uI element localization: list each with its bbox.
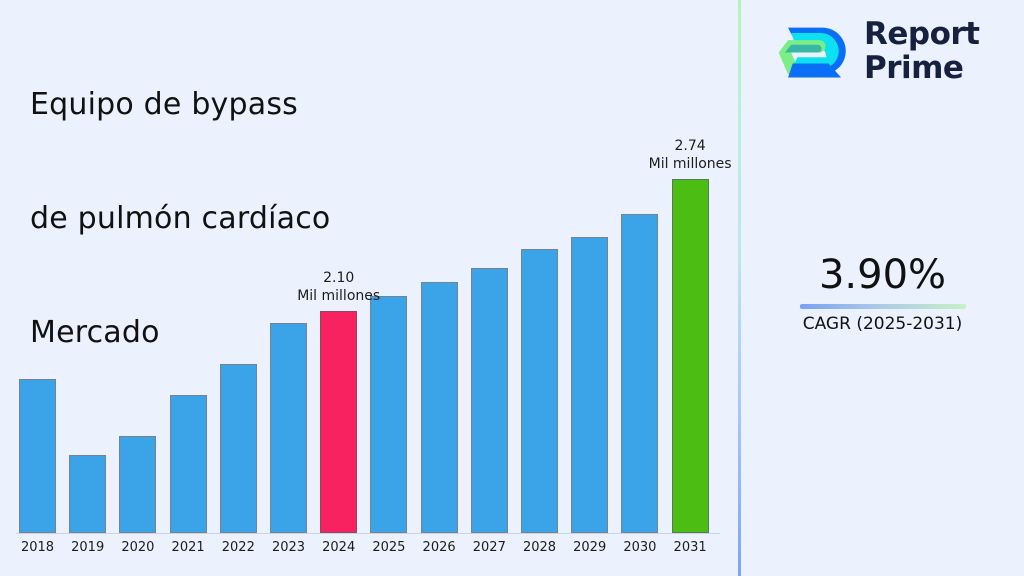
bar-2022 — [220, 364, 257, 533]
bar-2031 — [672, 179, 709, 533]
logo-text-line-2: Prime — [864, 51, 980, 85]
bar-2026 — [421, 282, 458, 533]
bar-2021 — [170, 395, 207, 533]
bar-callout-value-2031: 2.74 — [630, 137, 750, 155]
bar-callout-value-2024: 2.10 — [279, 269, 399, 287]
x-tick-2022: 2022 — [214, 540, 263, 555]
cagr-divider-rule — [800, 304, 966, 309]
right-panel: Report Prime 3.90% CAGR (2025-2031) — [741, 0, 1024, 576]
x-tick-2030: 2030 — [615, 540, 664, 555]
x-tick-2026: 2026 — [415, 540, 464, 555]
x-tick-2019: 2019 — [63, 540, 112, 555]
cagr-block: 3.90% CAGR (2025-2031) — [741, 252, 1024, 335]
x-tick-2020: 2020 — [113, 540, 162, 555]
report-prime-logo-text: Report Prime — [864, 17, 980, 85]
x-tick-2018: 2018 — [13, 540, 62, 555]
bar-2028 — [521, 249, 558, 533]
bar-2023 — [270, 323, 307, 533]
bar-2029 — [571, 237, 608, 533]
chart-page: Equipo de bypass de pulmón cardíaco Merc… — [0, 0, 1024, 576]
bar-2030 — [621, 214, 658, 533]
x-tick-2023: 2023 — [264, 540, 313, 555]
bar-callout-2031: 2.74Mil millones — [630, 137, 750, 173]
bar-chart: 2018201920202021202220232024202520262027… — [0, 0, 738, 576]
bar-callout-unit-2024: Mil millones — [279, 287, 399, 305]
x-tick-2031: 2031 — [666, 540, 715, 555]
bar-2019 — [69, 455, 106, 533]
report-prime-logo-mark — [774, 12, 852, 90]
bar-2027 — [471, 268, 508, 534]
logo-text-line-1: Report — [864, 17, 980, 51]
x-tick-2025: 2025 — [364, 540, 413, 555]
x-tick-2024: 2024 — [314, 540, 363, 555]
bar-callout-unit-2031: Mil millones — [630, 155, 750, 173]
x-axis-line — [16, 533, 720, 534]
bar-2020 — [119, 436, 156, 533]
bar-2025 — [370, 296, 407, 533]
cagr-label: CAGR (2025-2031) — [741, 313, 1024, 335]
bar-2024 — [320, 311, 357, 533]
x-tick-2028: 2028 — [515, 540, 564, 555]
bar-2018 — [19, 379, 56, 533]
cagr-value: 3.90% — [741, 252, 1024, 298]
x-tick-2027: 2027 — [465, 540, 514, 555]
x-tick-2021: 2021 — [164, 540, 213, 555]
report-prime-logo: Report Prime — [774, 12, 980, 90]
bar-callout-2024: 2.10Mil millones — [279, 269, 399, 305]
x-tick-2029: 2029 — [565, 540, 614, 555]
